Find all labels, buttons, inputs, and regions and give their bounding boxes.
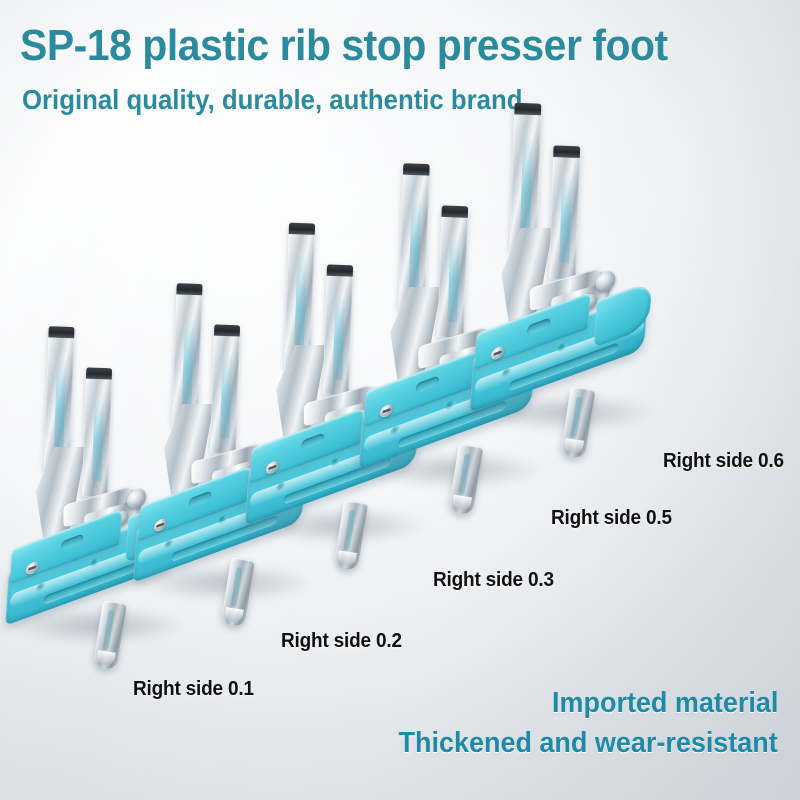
front-shank-dark-tip bbox=[327, 264, 353, 276]
sole-needle-slot bbox=[189, 490, 212, 508]
sole-screw bbox=[25, 560, 39, 576]
sole-screw bbox=[379, 402, 393, 419]
front-shank-dark-tip bbox=[553, 145, 580, 157]
sole-dimple-a bbox=[501, 367, 511, 379]
page-title: SP-18 plastic rib stop presser foot bbox=[20, 24, 668, 68]
front-shank-reflection bbox=[220, 353, 232, 438]
front-shank bbox=[210, 324, 240, 454]
rear-shank-dark-tip bbox=[176, 283, 202, 295]
sole-screw bbox=[265, 459, 279, 475]
front-shank-reflection bbox=[560, 175, 572, 263]
presser-foot-5: SP-18R1/4 bbox=[466, 94, 689, 468]
sole-dimple-b bbox=[557, 341, 567, 353]
rear-shank-reflection bbox=[294, 255, 306, 352]
sole-needle-slot bbox=[527, 317, 551, 335]
front-shank-reflection bbox=[448, 235, 460, 322]
tagline-wear-resistant: Thickened and wear-resistant bbox=[399, 728, 778, 759]
sole-dimple-a bbox=[164, 539, 174, 550]
front-shank bbox=[437, 205, 468, 338]
sole-dimple-b bbox=[218, 514, 228, 525]
front-shank bbox=[549, 145, 580, 279]
front-shank-dark-tip bbox=[441, 205, 468, 217]
front-shank-dark-tip bbox=[86, 367, 112, 379]
sole-needle-slot bbox=[415, 375, 439, 393]
page-subtitle: Original quality, durable, authentic bra… bbox=[22, 86, 522, 114]
front-shank bbox=[82, 367, 112, 497]
sole-dimple-a bbox=[390, 425, 400, 437]
foot-label-1: Right side 0.1 bbox=[133, 678, 254, 701]
rear-shank-dark-tip bbox=[514, 103, 541, 115]
front-shank-reflection bbox=[92, 396, 104, 481]
front-shank-reflection bbox=[333, 293, 345, 379]
rear-shank-dark-tip bbox=[289, 223, 315, 235]
sole-dimple-a bbox=[36, 582, 46, 593]
sole-needle-slot bbox=[61, 533, 84, 551]
sole-screw bbox=[490, 345, 504, 362]
sole-screw bbox=[153, 517, 167, 533]
front-shank bbox=[323, 264, 354, 395]
product-poster: SP-18R1/4 Right side 0.1Right side 0.2Ri… bbox=[0, 0, 800, 800]
sole-dimple-b bbox=[445, 399, 455, 411]
sole-dimple-b bbox=[330, 456, 340, 468]
rear-shank-dark-tip bbox=[48, 326, 74, 338]
rear-shank-reflection bbox=[182, 315, 194, 411]
sole-dimple-b bbox=[90, 557, 100, 568]
rear-shank-reflection bbox=[409, 196, 421, 294]
sole-dimple-a bbox=[276, 481, 286, 493]
tagline-imported-material: Imported material bbox=[552, 688, 778, 719]
sole-needle-slot bbox=[301, 432, 324, 450]
front-shank-dark-tip bbox=[214, 324, 240, 336]
rear-shank-reflection bbox=[54, 358, 66, 454]
rear-shank-reflection bbox=[520, 136, 533, 235]
rear-shank-dark-tip bbox=[403, 163, 430, 175]
